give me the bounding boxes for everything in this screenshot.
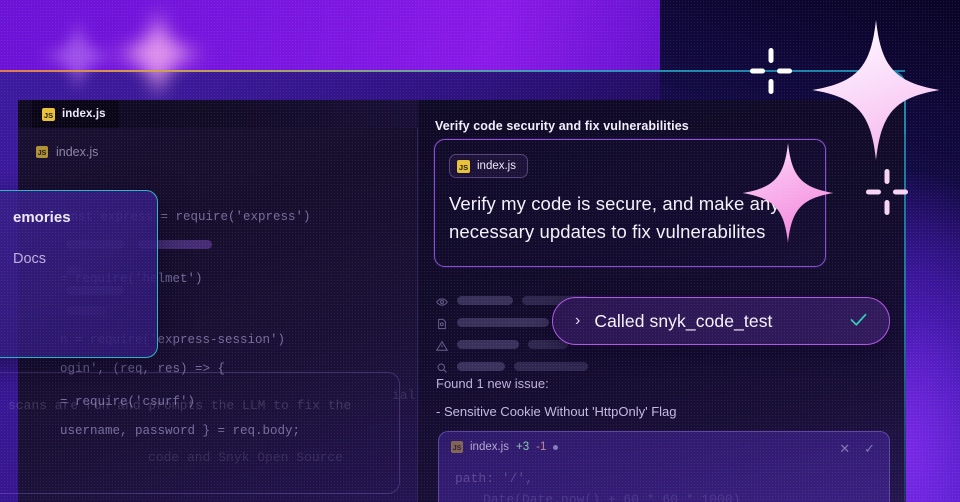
document-scan-icon xyxy=(436,317,448,329)
memories-card-subtitle: Docs xyxy=(13,251,46,267)
plus-mark-top xyxy=(750,48,792,99)
background-faded-panel xyxy=(0,372,400,494)
js-file-icon: JS xyxy=(42,108,55,121)
js-file-icon: JS xyxy=(457,160,470,173)
editor-tab-index-js[interactable]: JS index.js xyxy=(32,100,119,128)
diff-deletions: -1 xyxy=(536,441,546,453)
diff-preview-card: JS index.js +3 -1 ✕ ✓ path: '/', Date(Da… xyxy=(438,431,890,502)
attached-file-label: index.js xyxy=(477,160,516,172)
warning-triangle-icon xyxy=(436,339,448,351)
magnifier-icon xyxy=(436,361,448,373)
check-icon[interactable]: ✓ xyxy=(864,441,875,457)
tool-call-label: Called snyk_code_test xyxy=(594,311,834,332)
diff-header: JS index.js +3 -1 xyxy=(451,441,558,453)
js-file-icon: JS xyxy=(36,146,48,158)
screenshot-stage: JS index.js JS index.js 1const express =… xyxy=(0,0,960,502)
memories-card[interactable]: emories Docs xyxy=(0,190,158,358)
close-icon[interactable]: ✕ xyxy=(839,441,850,457)
sparkle-blur-left xyxy=(40,18,116,99)
sparkle-medium-pink xyxy=(742,143,834,248)
js-file-icon: JS xyxy=(451,441,463,453)
breadcrumb-label: index.js xyxy=(56,145,98,159)
background-text-line-1: scans are run and prompts the LLM to fix… xyxy=(8,398,351,413)
eye-icon xyxy=(436,295,448,307)
plus-mark-right xyxy=(866,169,908,220)
sparkle-blur-center xyxy=(110,6,206,107)
memories-card-title: emories xyxy=(13,209,71,226)
diff-code-line: Date(Date.now() + 60 * 60 * 1000) xyxy=(483,489,740,502)
tool-call-pill[interactable]: › Called snyk_code_test xyxy=(552,297,890,345)
editor-tab-label: index.js xyxy=(62,108,106,120)
diff-code-line: path: '/', xyxy=(455,468,533,489)
findings-summary: Found 1 new issue: - Sensitive Cookie Wi… xyxy=(436,373,677,422)
editor-tabbar: JS index.js xyxy=(18,100,418,128)
background-text-line-2: code and Snyk Open Source xyxy=(148,450,343,465)
finding-item: - Sensitive Cookie Without 'HttpOnly' Fl… xyxy=(436,401,677,422)
background-text-line-3: ial xyxy=(392,388,415,403)
check-icon xyxy=(848,309,869,334)
diff-additions: +3 xyxy=(516,441,529,453)
findings-heading: Found 1 new issue: xyxy=(436,373,677,394)
breadcrumb[interactable]: JS index.js xyxy=(36,145,98,159)
attached-file-chip[interactable]: JS index.js xyxy=(449,154,528,178)
chevron-right-icon[interactable]: › xyxy=(575,313,580,329)
diff-file-name: index.js xyxy=(470,441,509,453)
modified-dot-icon xyxy=(553,445,558,450)
diff-actions: ✕ ✓ xyxy=(839,441,875,457)
chat-conversation-title: Verify code security and fix vulnerabili… xyxy=(435,119,689,133)
